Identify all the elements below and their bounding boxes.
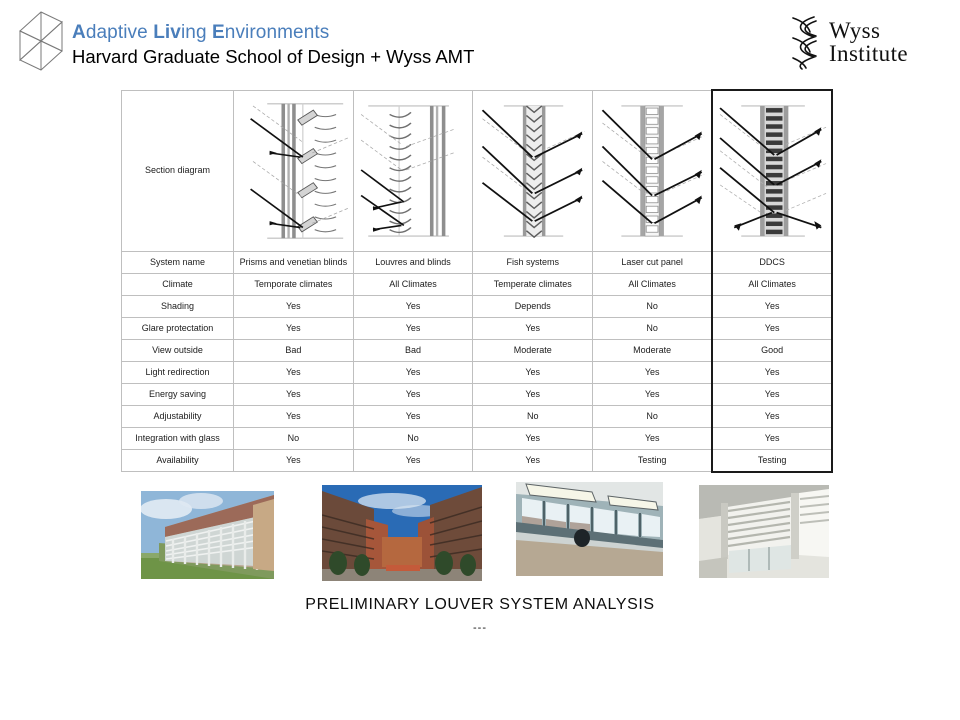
section-diagram-prisms-and-venetian-blinds	[234, 90, 354, 252]
table-cell: Yes	[353, 406, 473, 428]
table-row: AvailabilityYesYesYesTestingTesting	[122, 450, 833, 472]
column-header: Fish systems	[473, 252, 593, 274]
table-cell: Yes	[593, 384, 713, 406]
table-cell: Yes	[712, 296, 832, 318]
table-cell: No	[593, 406, 713, 428]
table-cell: Testing	[593, 450, 713, 472]
wyss-institute-logo: Wyss Institute	[788, 12, 948, 72]
table-row: Integration with glassNoNoYesYesYes	[122, 428, 833, 450]
table-cell: Yes	[473, 318, 593, 340]
table-cell: All Climates	[593, 274, 713, 296]
table-cell: Yes	[353, 450, 473, 472]
row-label-availability: Availability	[122, 450, 234, 472]
wyss-helix-icon	[788, 14, 822, 70]
table-cell: No	[353, 428, 473, 450]
column-header: DDCS	[712, 252, 832, 274]
table-cell: Moderate	[473, 340, 593, 362]
table-cell: Bad	[353, 340, 473, 362]
row-label-integration-with-glass: Integration with glass	[122, 428, 234, 450]
table-cell: All Climates	[353, 274, 473, 296]
table-row-section-diagram: Section diagram	[122, 90, 833, 252]
row-label-light-redirection: Light redirection	[122, 362, 234, 384]
table-cell: Yes	[712, 362, 832, 384]
table-cell: Testing	[712, 450, 832, 472]
table-cell: Yes	[353, 362, 473, 384]
caption-title: PRELIMINARY LOUVER SYSTEM ANALYSIS	[0, 596, 960, 614]
table-cell: Yes	[234, 362, 354, 384]
row-label-adjustability: Adjustability	[122, 406, 234, 428]
row-label-energy-saving: Energy saving	[122, 384, 234, 406]
table-cell: Yes	[234, 318, 354, 340]
column-header: Prisms and venetian blinds	[234, 252, 354, 274]
table-row: ShadingYesYesDependsNoYes	[122, 296, 833, 318]
photo-office-interior-windows	[516, 482, 663, 576]
wyss-wordmark: Wyss Institute	[829, 19, 908, 66]
wyss-word-line2: Institute	[829, 42, 908, 65]
table-cell: Yes	[234, 450, 354, 472]
table-cell: Yes	[593, 428, 713, 450]
column-header: Laser cut panel	[593, 252, 713, 274]
table-row: Energy savingYesYesYesYesYes	[122, 384, 833, 406]
table-cell: Temporate climates	[234, 274, 354, 296]
table-cell: Yes	[234, 296, 354, 318]
table-cell: Temperate climates	[473, 274, 593, 296]
table-cell: Yes	[712, 318, 832, 340]
table-cell: Yes	[234, 384, 354, 406]
table-cell: Yes	[473, 362, 593, 384]
louver-system-comparison-table: Section diagram	[121, 89, 833, 473]
row-label-view-outside: View outside	[122, 340, 234, 362]
table-cell: Yes	[473, 450, 593, 472]
page-subtitle: Harvard Graduate School of Design + Wyss…	[72, 45, 474, 68]
table-cell: No	[593, 318, 713, 340]
wyss-word-line1: Wyss	[829, 19, 908, 42]
photo-louvered-facade-exterior	[141, 491, 274, 579]
table-cell: Yes	[353, 384, 473, 406]
photo-interior-horizontal-blinds	[699, 485, 829, 578]
table-cell: All Climates	[712, 274, 832, 296]
table-row: Glare protectationYesYesYesNoYes	[122, 318, 833, 340]
table-row: System namePrisms and venetian blindsLou…	[122, 252, 833, 274]
title-block: Adaptive Living Environments Harvard Gra…	[72, 22, 474, 68]
section-diagram-fish-systems	[473, 90, 593, 252]
table-cell: No	[234, 428, 354, 450]
table-cell: Good	[712, 340, 832, 362]
table-cell: Yes	[473, 384, 593, 406]
slide-canvas: Adaptive Living Environments Harvard Gra…	[0, 0, 960, 720]
table-cell: Yes	[353, 296, 473, 318]
caption-block: PRELIMINARY LOUVER SYSTEM ANALYSIS ---	[0, 596, 960, 634]
photo-urban-street-brick-buildings	[322, 485, 482, 581]
row-label-shading: Shading	[122, 296, 234, 318]
section-diagram-laser-cut-panel	[593, 90, 713, 252]
table-row: AdjustabilityYesYesNoNoYes	[122, 406, 833, 428]
page-title: Adaptive Living Environments	[72, 22, 474, 44]
table-cell: Yes	[593, 362, 713, 384]
row-label-climate: Climate	[122, 274, 234, 296]
table-row: Light redirectionYesYesYesYesYes	[122, 362, 833, 384]
row-label-section-diagram: Section diagram	[122, 90, 234, 252]
table-cell: Moderate	[593, 340, 713, 362]
adaptive-living-environments-logo	[18, 10, 64, 72]
table-cell: No	[593, 296, 713, 318]
table-row: View outsideBadBadModerateModerateGood	[122, 340, 833, 362]
column-header: Louvres and blinds	[353, 252, 473, 274]
section-diagram-louvres-and-blinds	[353, 90, 473, 252]
table-cell: Yes	[712, 428, 832, 450]
table-cell: Bad	[234, 340, 354, 362]
table-cell: Yes	[234, 406, 354, 428]
table-cell: Yes	[712, 406, 832, 428]
table-cell: Yes	[712, 384, 832, 406]
caption-subtitle: ---	[0, 622, 960, 634]
row-label-system-name: System name	[122, 252, 234, 274]
table-cell: Depends	[473, 296, 593, 318]
table-cell: Yes	[473, 428, 593, 450]
table-cell: No	[473, 406, 593, 428]
section-diagram-ddcs	[712, 90, 832, 252]
row-label-glare-protectation: Glare protectation	[122, 318, 234, 340]
table-row: ClimateTemporate climatesAll ClimatesTem…	[122, 274, 833, 296]
table-cell: Yes	[353, 318, 473, 340]
